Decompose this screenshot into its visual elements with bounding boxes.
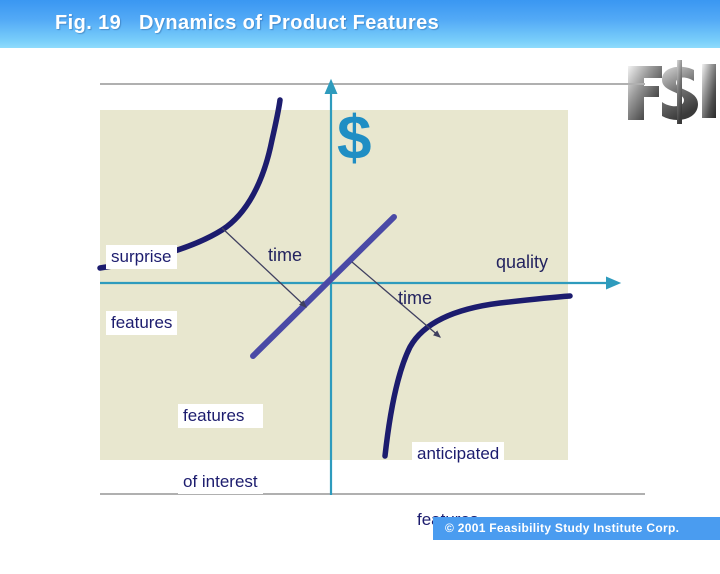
label-features-of-interest-line2: of interest — [178, 470, 263, 494]
label-time-left: time — [268, 245, 302, 266]
series-features-of-interest — [253, 217, 394, 356]
label-surprise-features: surprise features — [106, 203, 177, 377]
label-anticipated-features-line1: anticipated — [412, 442, 504, 466]
label-features-of-interest: features of interest — [178, 362, 263, 536]
arrow-time-left — [222, 228, 306, 307]
label-anticipated-features: anticipated features — [412, 400, 504, 574]
y-axis-label: $ — [337, 108, 371, 170]
chart-figure: $ quality surprise features features of … — [0, 0, 720, 540]
label-features-of-interest-line1: features — [178, 404, 263, 428]
x-axis-label: quality — [496, 252, 548, 273]
label-surprise-features-line1: surprise — [106, 245, 177, 269]
label-surprise-features-line2: features — [106, 311, 177, 335]
label-time-right: time — [398, 288, 432, 309]
copyright-text: © 2001 Feasibility Study Institute Corp. — [445, 521, 679, 535]
